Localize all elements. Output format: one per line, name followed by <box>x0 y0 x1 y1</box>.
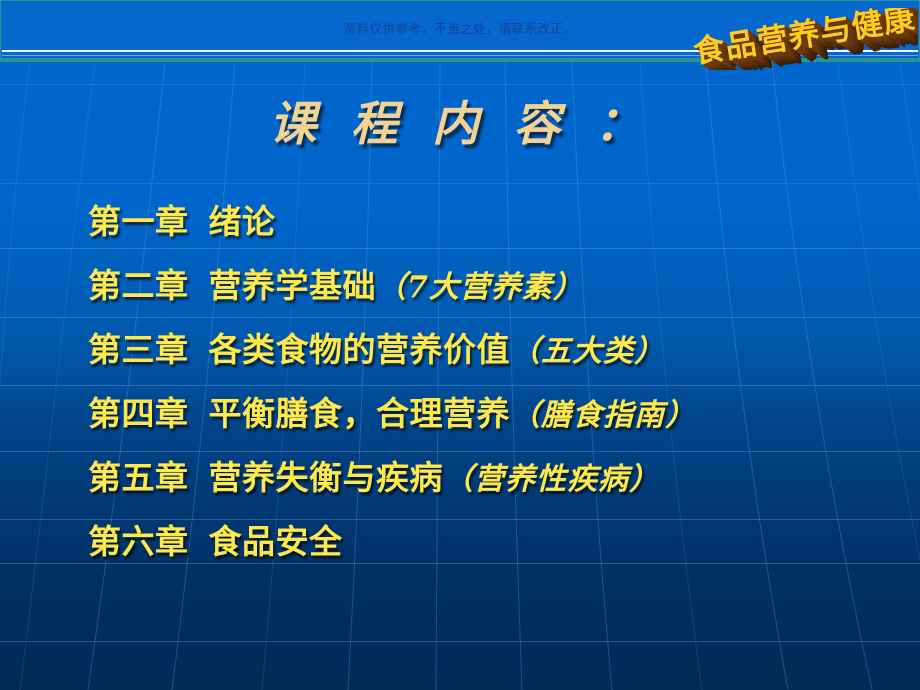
outline-row: 第六章食品安全 <box>88 510 888 574</box>
chapter-note: （膳食指南） <box>510 398 696 433</box>
chapter-topic: 平衡膳食，合理营养 <box>209 394 511 433</box>
outline-row: 第二章营养学基础（7大营养素） <box>88 254 888 318</box>
chapter-label: 第四章 <box>88 394 189 433</box>
chapter-note: （7大营养素） <box>376 270 584 305</box>
page-title: 课 程 内 容 ： <box>0 96 920 154</box>
chapter-topic: 营养学基础 <box>209 266 377 305</box>
chapter-topic: 营养失衡与疾病 <box>209 458 444 497</box>
chapter-topic: 绪论 <box>209 202 276 241</box>
course-logo: 食品营养与健康 <box>688 8 918 70</box>
chapter-note: （营养性疾病） <box>443 462 660 497</box>
outline-row: 第五章营养失衡与疾病（营养性疾病） <box>88 446 888 510</box>
course-outline-list: 第一章绪论 第二章营养学基础（7大营养素） 第三章各类食物的营养价值（五大类） … <box>88 190 888 574</box>
chapter-note: （五大类） <box>510 334 665 369</box>
chapter-label: 第六章 <box>88 522 189 561</box>
outline-row: 第三章各类食物的营养价值（五大类） <box>88 318 888 382</box>
latitude-line <box>0 641 920 642</box>
outline-row: 第四章平衡膳食，合理营养（膳食指南） <box>88 382 888 446</box>
chapter-label: 第三章 <box>88 330 189 369</box>
latitude-line <box>0 84 920 85</box>
slide-canvas: 资料仅供参考，不当之处，请联系改正。 食品营养与健康 课 程 内 容 ： 第一章… <box>0 0 920 690</box>
outline-row: 第一章绪论 <box>88 190 888 254</box>
latitude-line <box>0 183 920 184</box>
chapter-topic: 食品安全 <box>209 522 343 561</box>
chapter-topic: 各类食物的营养价值 <box>209 330 511 369</box>
chapter-label: 第一章 <box>88 202 189 241</box>
chapter-label: 第五章 <box>88 458 189 497</box>
chapter-label: 第二章 <box>88 266 189 305</box>
course-logo-text: 食品营养与健康 <box>692 8 918 69</box>
